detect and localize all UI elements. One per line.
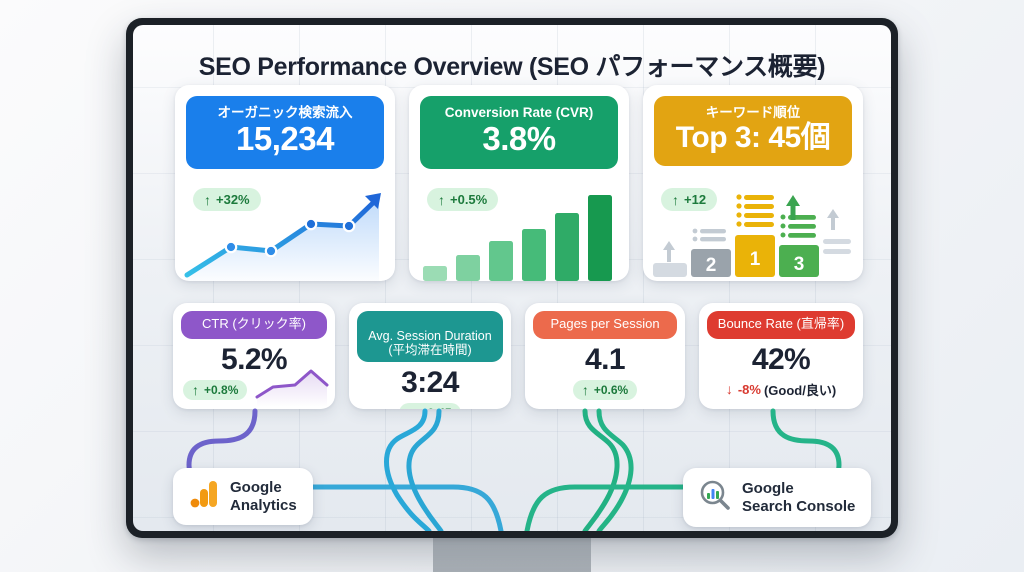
- kpi-card-conversion-rate[interactable]: Conversion Rate (CVR) 3.8% ↑ +0.5%: [409, 85, 629, 281]
- kpi-header-organic: オーガニック検索流入 15,234: [186, 96, 384, 169]
- source-card-google-analytics[interactable]: Google Analytics: [173, 468, 313, 525]
- kpi-delta-duration: +0:45: [420, 406, 451, 409]
- kpi-value-organic: 15,234: [192, 121, 378, 158]
- source-card-google-search-console[interactable]: Google Search Console: [683, 468, 871, 527]
- kpi-header-duration: Avg. Session Duration (平均滞在時間): [357, 311, 503, 362]
- kpi-delta-pages: +0.6%: [594, 383, 628, 397]
- kpi-card-keyword-ranking[interactable]: キーワード順位 Top 3: 45個 ↑ +12: [643, 85, 863, 281]
- kpi-card-ctr[interactable]: CTR (クリック率) 5.2% ↑ +0.8%: [173, 303, 335, 409]
- kpi-value-bounce: 42%: [699, 343, 863, 377]
- svg-text:1: 1: [750, 249, 761, 270]
- page-title: SEO Performance Overview (SEO パフォーマンス概要): [133, 47, 891, 83]
- kpi-title-duration: Avg. Session Duration (平均滞在時間): [368, 329, 491, 357]
- podium-chart-keyword: 2 1: [643, 187, 863, 281]
- google-search-console-icon: [699, 479, 731, 516]
- google-analytics-icon: [189, 479, 219, 514]
- kpi-value-duration: 3:24: [349, 366, 511, 400]
- kpi-header-ctr: CTR (クリック率): [181, 311, 327, 339]
- kpi-delta-wrap-bounce: ↓ -8% (Good/良い): [699, 380, 863, 399]
- kpi-header-bounce: Bounce Rate (直帰率): [707, 311, 855, 339]
- arrow-up-icon: ↑: [192, 383, 199, 397]
- status-badge-ctr: ↑ +0.8%: [183, 380, 247, 400]
- kpi-note-bounce: (Good/良い): [764, 380, 836, 399]
- svg-text:3: 3: [794, 254, 805, 275]
- kpi-card-pages-per-session[interactable]: Pages per Session 4.1 ↑ +0.6%: [525, 303, 685, 409]
- kpi-header-pages: Pages per Session: [533, 311, 677, 339]
- kpi-delta-ctr: +0.8%: [204, 383, 238, 397]
- kpi-delta-bounce: -8%: [738, 382, 761, 397]
- kpi-value-keyword: Top 3: 45個: [660, 121, 846, 155]
- kpi-card-bounce-rate[interactable]: Bounce Rate (直帰率) 42% ↓ -8% (Good/良い): [699, 303, 863, 409]
- kpi-title-keyword: キーワード順位: [660, 105, 846, 120]
- arrow-up-icon: ↑: [582, 383, 589, 397]
- arrow-up-icon: ↑: [408, 406, 415, 409]
- arrow-down-icon: ↓: [726, 382, 733, 396]
- kpi-title-organic: オーガニック検索流入: [192, 105, 378, 120]
- kpi-header-cvr: Conversion Rate (CVR) 3.8%: [420, 96, 618, 169]
- monitor-frame: SEO Performance Overview (SEO パフォーマンス概要)…: [126, 18, 898, 538]
- svg-text:2: 2: [706, 255, 717, 276]
- kpi-header-keyword: キーワード順位 Top 3: 45個: [654, 96, 852, 166]
- line-chart-organic: [175, 187, 395, 281]
- source-label-google-analytics: Google Analytics: [230, 479, 297, 514]
- sparkline-ctr: [255, 361, 331, 407]
- kpi-card-avg-session-duration[interactable]: Avg. Session Duration (平均滞在時間) 3:24 ↑ +0…: [349, 303, 511, 409]
- kpi-title-cvr: Conversion Rate (CVR): [426, 105, 612, 120]
- kpi-delta-wrap-duration: ↑ +0:45: [349, 403, 511, 409]
- kpi-title-bounce: Bounce Rate (直帰率): [718, 316, 844, 331]
- kpi-title-pages: Pages per Session: [550, 316, 659, 331]
- kpi-value-cvr: 3.8%: [426, 121, 612, 158]
- kpi-delta-wrap-pages: ↑ +0.6%: [525, 380, 685, 400]
- kpi-card-organic-search-traffic[interactable]: オーガニック検索流入 15,234 ↑ +32%: [175, 85, 395, 281]
- kpi-title-ctr: CTR (クリック率): [202, 316, 306, 331]
- bar-chart-cvr: [409, 187, 629, 281]
- screenshot-stage: SEO Performance Overview (SEO パフォーマンス概要)…: [0, 0, 1024, 572]
- monitor-screen: SEO Performance Overview (SEO パフォーマンス概要)…: [133, 25, 891, 531]
- status-badge-pages: ↑ +0.6%: [573, 380, 637, 400]
- status-badge-duration: ↑ +0:45: [399, 403, 460, 409]
- source-label-google-search-console: Google Search Console: [742, 480, 855, 515]
- status-badge-bounce: ↓ -8%: [726, 380, 761, 399]
- kpi-value-pages: 4.1: [525, 343, 685, 377]
